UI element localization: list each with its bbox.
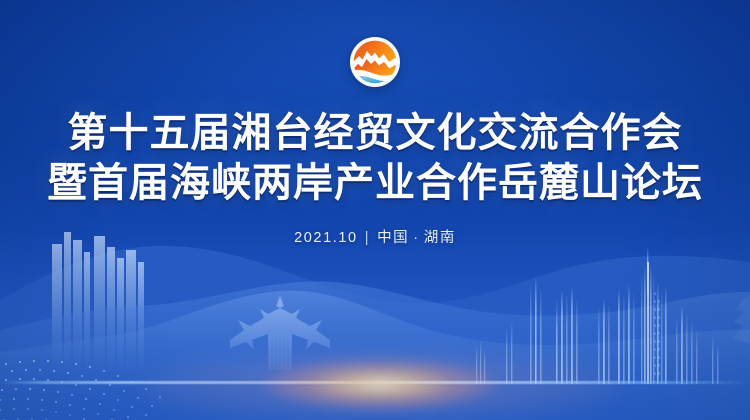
subtitle-line: 2021.10|中国·湖南 bbox=[0, 226, 750, 247]
subtitle-middot: · bbox=[413, 230, 419, 246]
conference-banner: 第十五届湘台经贸文化交流合作会 暨首届海峡两岸产业合作岳麓山论坛 2021.10… bbox=[0, 0, 750, 420]
subtitle-separator: | bbox=[365, 230, 370, 246]
title-line-2: 暨首届海峡两岸产业合作岳麓山论坛 bbox=[0, 158, 750, 208]
subtitle-province: 湖南 bbox=[424, 230, 456, 246]
mountain-sun-water-emblem-logo bbox=[349, 36, 401, 88]
title-line-1: 第十五届湘台经贸文化交流合作会 bbox=[0, 108, 750, 158]
right-edge-pine-silhouette bbox=[732, 296, 750, 344]
left-building-silhouettes bbox=[52, 232, 144, 370]
subtitle-country: 中国 bbox=[377, 230, 409, 246]
subtitle-date: 2021.10 bbox=[294, 230, 358, 246]
conference-logo bbox=[349, 36, 401, 88]
horizon-light-streak bbox=[0, 381, 750, 384]
title-block: 第十五届湘台经贸文化交流合作会 暨首届海峡两岸产业合作岳麓山论坛 2021.10… bbox=[0, 108, 750, 247]
horizon-warm-glow bbox=[265, 358, 495, 410]
